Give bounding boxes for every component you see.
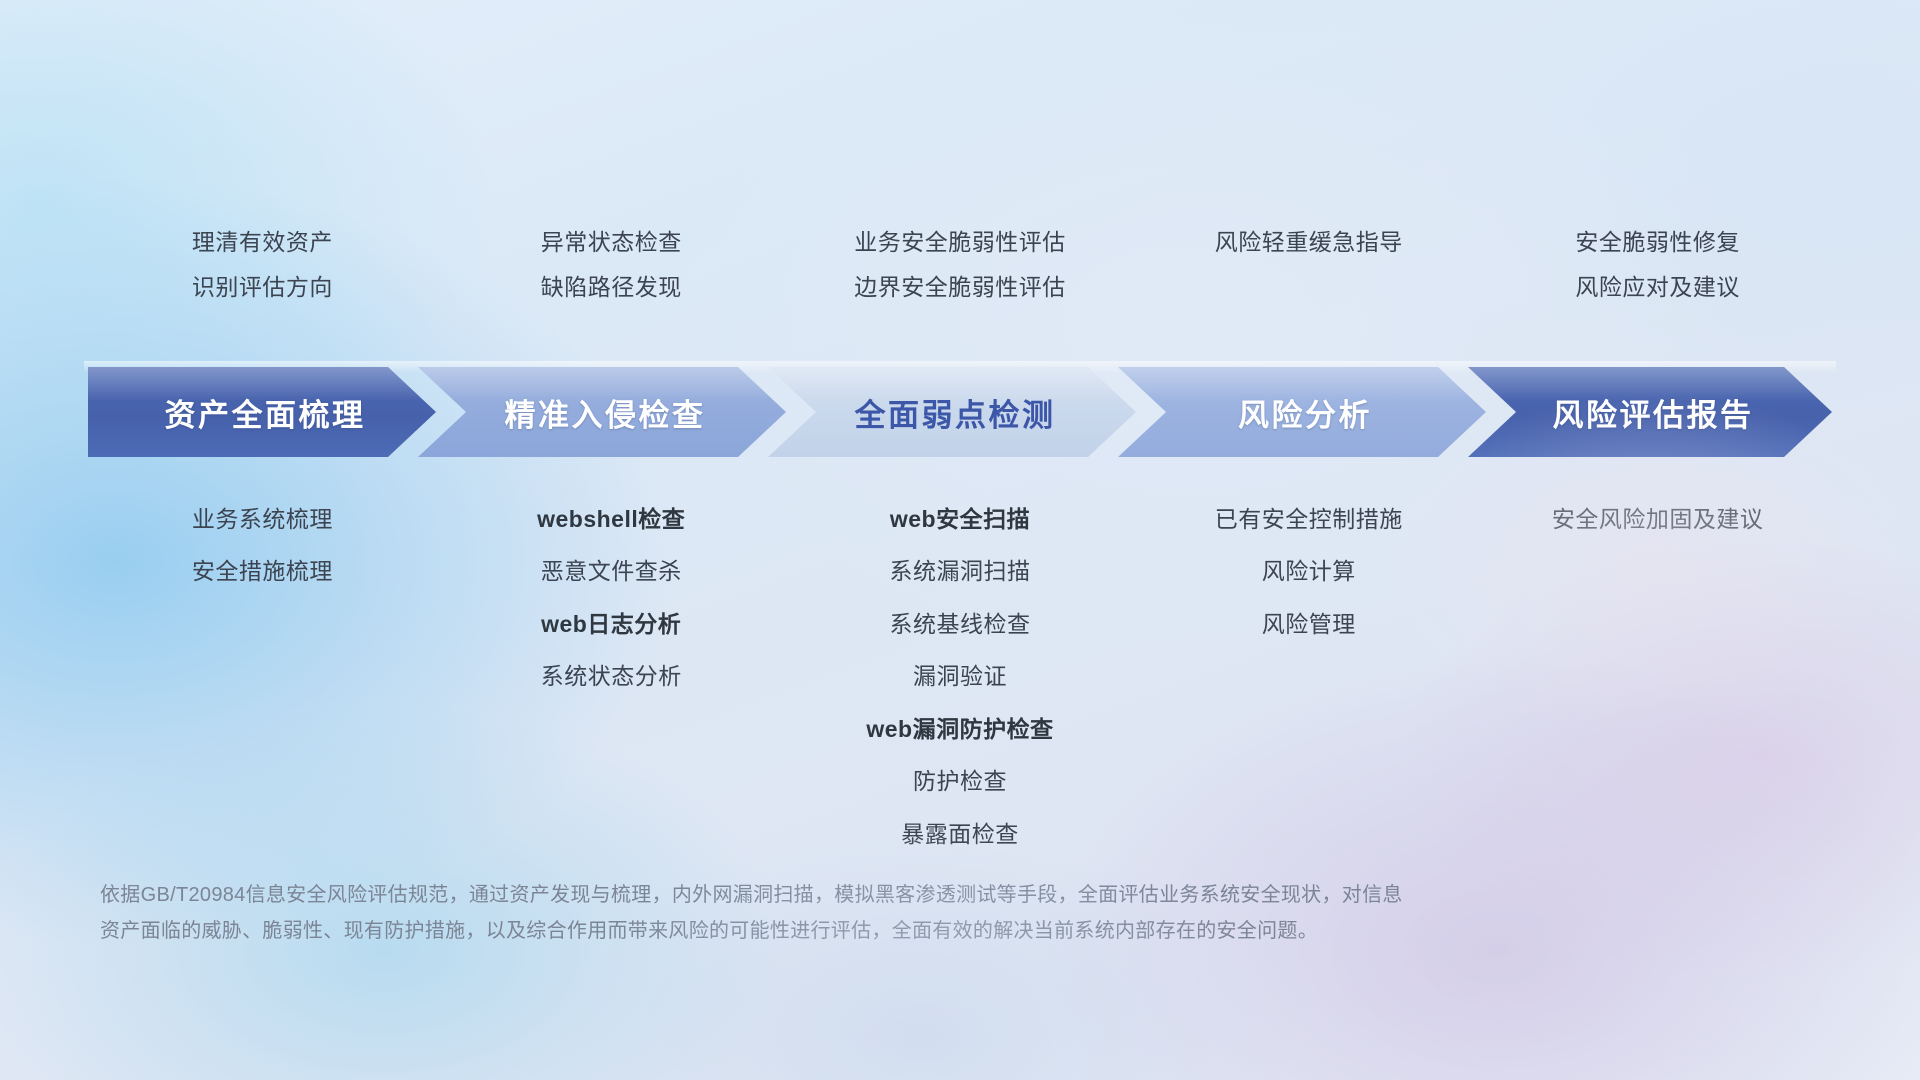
- stage-outputs-col-4: 风险轻重缓急指导: [1134, 228, 1483, 303]
- stage-task-item: 防护检查: [913, 767, 1007, 796]
- stage-task-item: 暴露面检查: [901, 820, 1019, 849]
- stage-task-item: web漏洞防护检查: [866, 715, 1053, 744]
- stage-task-item: web日志分析: [541, 610, 681, 639]
- stage-outputs-col-2: 异常状态检查缺陷路径发现: [437, 228, 786, 303]
- stage-chevron-1[interactable]: 资产全面梳理: [88, 367, 436, 457]
- stage-task-item: 安全措施梳理: [192, 557, 333, 586]
- stage-output-item: 业务安全脆弱性评估: [854, 228, 1066, 257]
- stage-task-item: 风险管理: [1262, 610, 1356, 639]
- stage-task-item: 系统基线检查: [889, 610, 1030, 639]
- stage-chevron-3[interactable]: 全面弱点检测: [768, 367, 1136, 457]
- footer-description: 依据GB/T20984信息安全风险评估规范，通过资产发现与梳理，内外网漏洞扫描，…: [100, 878, 1640, 949]
- stage-chevron-band: 资产全面梳理 精准入侵检查 全面弱点检测 风险分析 风险评估报告: [88, 367, 1832, 457]
- stage-output-item: 边界安全脆弱性评估: [854, 273, 1066, 302]
- stage-tasks-col-2: webshell检查恶意文件查杀web日志分析系统状态分析: [437, 505, 786, 692]
- stage-tasks-col-1: 业务系统梳理安全措施梳理: [88, 505, 437, 587]
- stage-output-item: 安全脆弱性修复: [1575, 228, 1740, 257]
- stage-output-item: 理清有效资产: [192, 228, 333, 257]
- stage-task-item: 系统漏洞扫描: [889, 557, 1030, 586]
- stage-task-item: 安全风险加固及建议: [1552, 505, 1764, 534]
- stage-chevron-2[interactable]: 精准入侵检查: [418, 367, 786, 457]
- stage-label-4: 风险分析: [1232, 390, 1372, 435]
- stage-output-item: 缺陷路径发现: [541, 273, 682, 302]
- stage-output-item: 异常状态检查: [541, 228, 682, 257]
- stage-chevron-4[interactable]: 风险分析: [1118, 367, 1486, 457]
- stage-label-3: 全面弱点检测: [849, 390, 1056, 435]
- stage-tasks-row: 业务系统梳理安全措施梳理webshell检查恶意文件查杀web日志分析系统状态分…: [88, 505, 1832, 849]
- process-board: 理清有效资产识别评估方向异常状态检查缺陷路径发现业务安全脆弱性评估边界安全脆弱性…: [0, 0, 1920, 1080]
- stage-output-item: 风险轻重缓急指导: [1215, 228, 1403, 257]
- stage-outputs-col-1: 理清有效资产识别评估方向: [88, 228, 437, 303]
- stage-label-2: 精准入侵检查: [499, 390, 706, 435]
- footer-line-1: 依据GB/T20984信息安全风险评估规范，通过资产发现与梳理，内外网漏洞扫描，…: [100, 878, 1640, 914]
- stage-chevron-5[interactable]: 风险评估报告: [1468, 367, 1832, 457]
- infographic-canvas: 理清有效资产识别评估方向异常状态检查缺陷路径发现业务安全脆弱性评估边界安全脆弱性…: [0, 0, 1920, 1080]
- stage-output-item: 风险应对及建议: [1575, 273, 1740, 302]
- stage-tasks-col-3: web安全扫描系统漏洞扫描系统基线检查漏洞验证web漏洞防护检查防护检查暴露面检…: [786, 505, 1135, 849]
- stage-task-item: webshell检查: [537, 505, 685, 534]
- stage-output-item: 识别评估方向: [192, 273, 333, 302]
- footer-line-2: 资产面临的威胁、脆弱性、现有防护措施，以及综合作用而带来风险的可能性进行评估，全…: [100, 914, 1640, 950]
- stage-outputs-col-5: 安全脆弱性修复风险应对及建议: [1483, 228, 1832, 303]
- stage-outputs-row: 理清有效资产识别评估方向异常状态检查缺陷路径发现业务安全脆弱性评估边界安全脆弱性…: [88, 228, 1832, 303]
- stage-outputs-col-3: 业务安全脆弱性评估边界安全脆弱性评估: [786, 228, 1135, 303]
- stage-task-item: 风险计算: [1262, 557, 1356, 586]
- stage-task-item: 恶意文件查杀: [541, 557, 682, 586]
- stage-tasks-col-5: 安全风险加固及建议: [1483, 505, 1832, 534]
- stage-task-item: 漏洞验证: [913, 662, 1007, 691]
- stage-task-item: 已有安全控制措施: [1215, 505, 1403, 534]
- stage-task-item: 业务系统梳理: [192, 505, 333, 534]
- stage-label-1: 资产全面梳理: [159, 390, 366, 435]
- stage-label-5: 风险评估报告: [1547, 390, 1754, 435]
- stage-tasks-col-4: 已有安全控制措施风险计算风险管理: [1134, 505, 1483, 639]
- stage-task-item: 系统状态分析: [541, 662, 682, 691]
- stage-task-item: web安全扫描: [890, 505, 1030, 534]
